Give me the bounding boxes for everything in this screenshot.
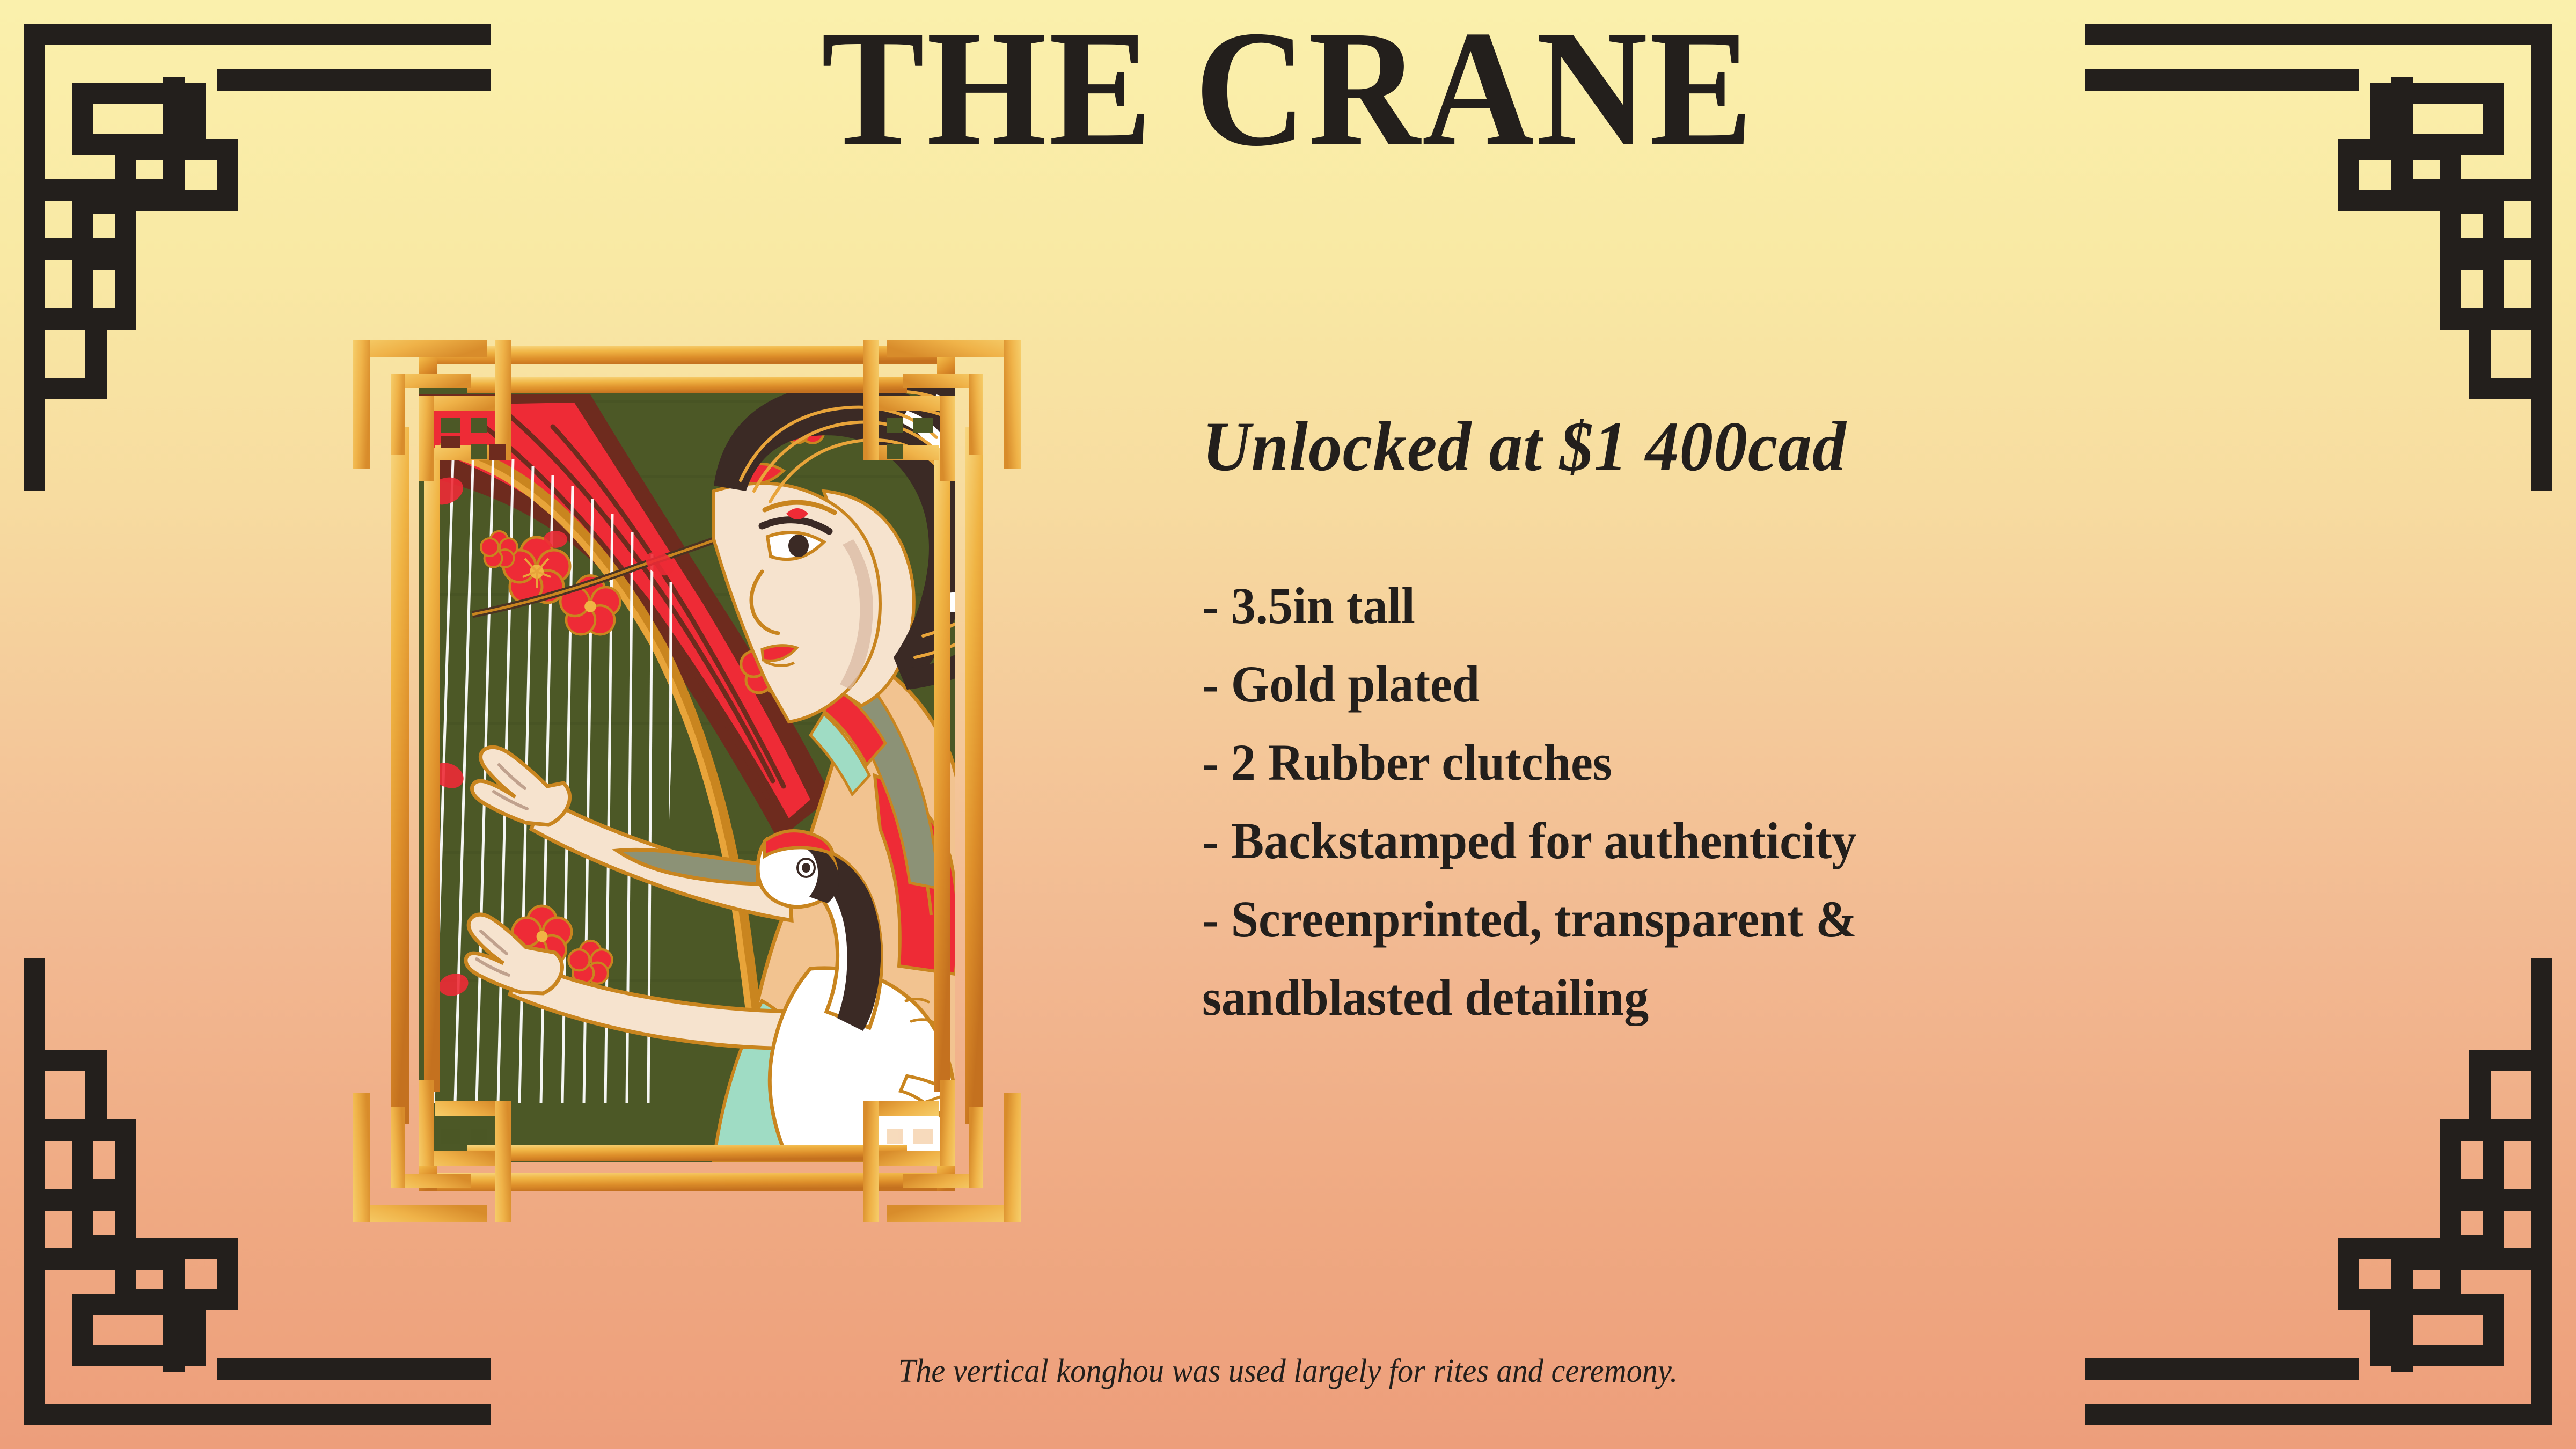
spec-item-continuation: sandblasted detailing — [1202, 958, 2387, 1037]
spec-item: - 2 Rubber clutches — [1202, 723, 2387, 802]
spec-item: - Screenprinted, transparent & — [1202, 880, 2387, 958]
footer-caption: The vertical konghou was used largely fo… — [77, 1352, 2499, 1391]
konghou-crane-illustration — [338, 314, 1036, 1248]
product-info-panel: Unlocked at $1 400cad - 3.5in tall - Gol… — [1202, 405, 2436, 1036]
spec-list: - 3.5in tall - Gold plated - 2 Rubber cl… — [1202, 567, 2436, 1036]
price-line: Unlocked at $1 400cad — [1202, 405, 2375, 487]
spec-item: - 3.5in tall — [1202, 567, 2387, 645]
spec-item: - Backstamped for authenticity — [1202, 802, 2387, 880]
spec-item: - Gold plated — [1202, 645, 2387, 723]
page-title: THE CRANE — [90, 0, 2486, 182]
artwork-image — [338, 314, 1036, 1248]
